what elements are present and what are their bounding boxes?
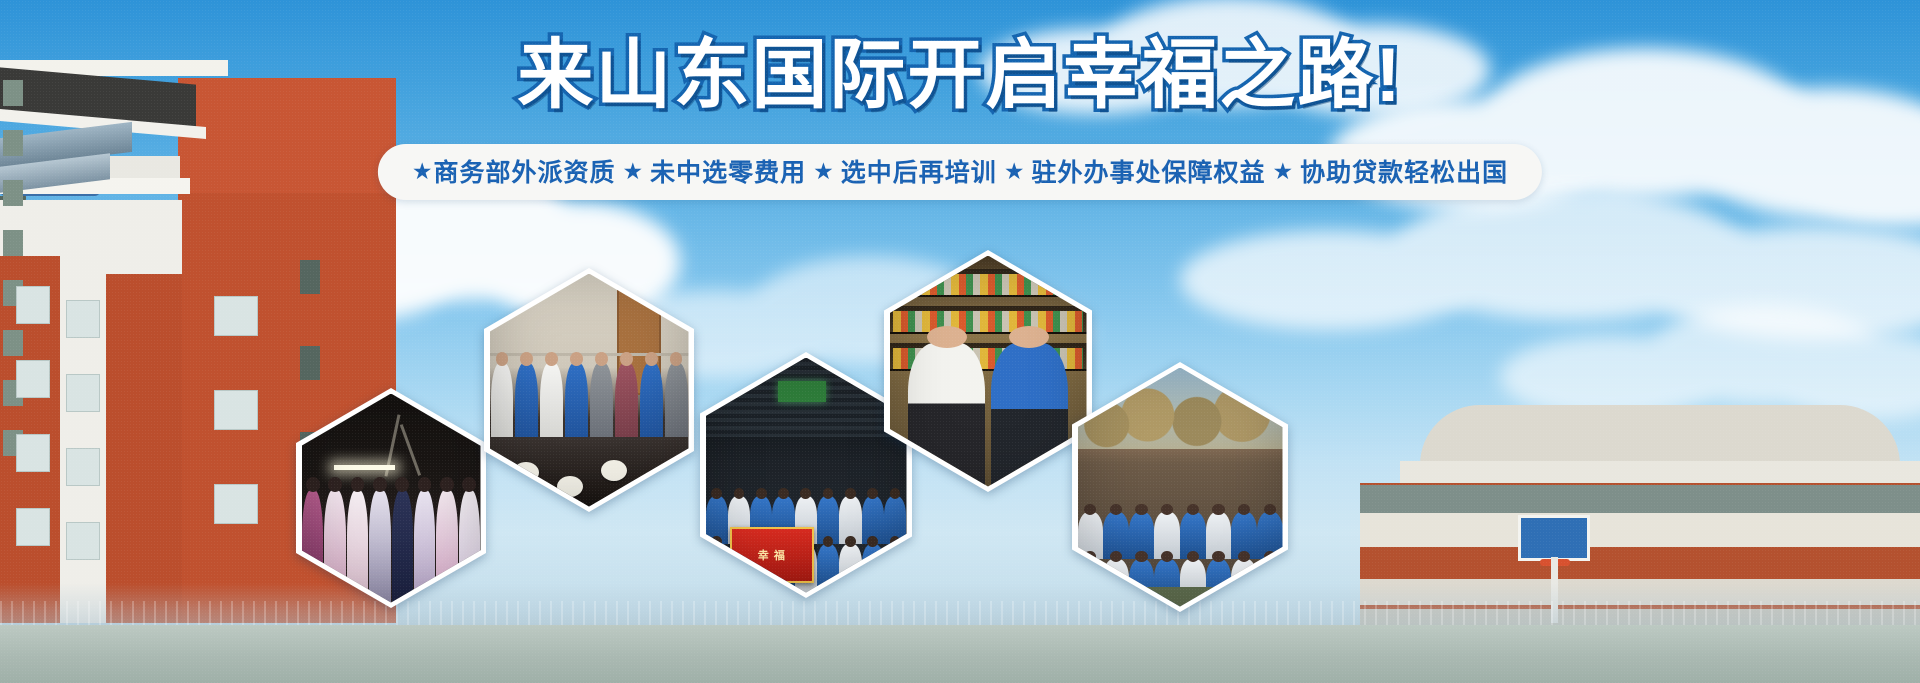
hex-photo-sushi-class[interactable] (484, 268, 694, 512)
feature-item-2: 选中后再培训 (841, 153, 997, 189)
promo-banner: 幸 福 (0, 0, 1920, 683)
star-icon-4: ★ (1265, 160, 1300, 183)
banner-headline: 来山东国际开启幸福之路! (0, 34, 1920, 118)
star-icon-0: ★ (412, 160, 434, 183)
star-icon-2: ★ (806, 160, 841, 183)
hex-photo-class-group[interactable]: 幸 福 (700, 352, 912, 598)
hex-photo-supermarket[interactable] (884, 250, 1092, 492)
feature-item-0: 商务部外派资质 (434, 153, 616, 189)
red-banner-text: 幸 福 (730, 527, 814, 583)
star-icon-1: ★ (616, 160, 651, 183)
star-icon-3: ★ (997, 160, 1032, 183)
feature-item-1: 未中选零费用 (650, 153, 806, 189)
feature-item-3: 驻外办事处保障权益 (1031, 153, 1265, 189)
feature-pill-bar: ★ 商务部外派资质 ★ 未中选零费用 ★ 选中后再培训 ★ 驻外办事处保障权益 … (378, 144, 1542, 200)
hex-photo-outdoor-group[interactable] (1072, 362, 1288, 612)
feature-item-4: 协助贷款轻松出国 (1300, 153, 1508, 189)
hex-photo-kimono-ceremony[interactable] (296, 388, 486, 608)
